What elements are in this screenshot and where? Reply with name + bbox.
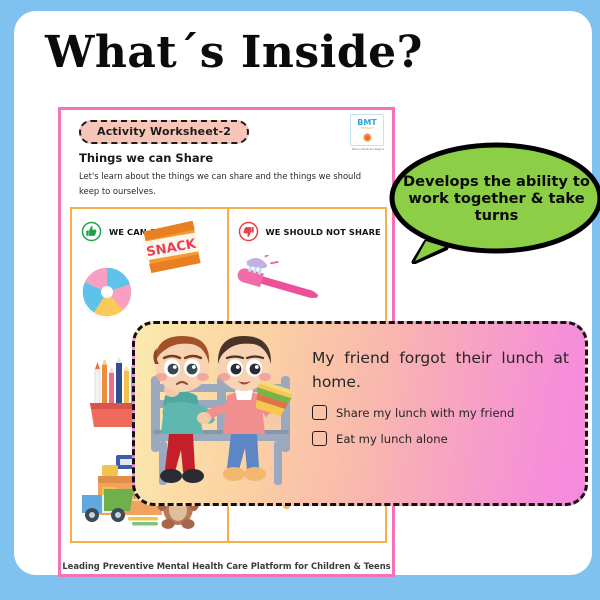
callout-text: Develops the ability to work together & … <box>388 142 600 255</box>
checkbox-share-lunch[interactable] <box>312 405 327 420</box>
logo-mark-icon <box>361 132 374 143</box>
toothbrush-icon <box>235 255 321 317</box>
scenario-content: My friend forgot their lunch at home. Sh… <box>310 324 585 503</box>
option-row-eat-alone[interactable]: Eat my lunch alone <box>312 431 569 446</box>
column-label-not-share: WE SHOULD NOT SHARE <box>266 227 381 237</box>
column-header-not-share: WE SHOULD NOT SHARE <box>229 209 386 245</box>
thumbs-up-icon <box>81 221 102 242</box>
page-title: What´s Inside? <box>45 27 423 78</box>
logo-tagline: Where Wellness Begins <box>350 148 386 151</box>
option-label-share-lunch: Share my lunch with my friend <box>336 406 514 420</box>
thumbs-down-icon <box>238 221 259 242</box>
two-kids-on-bench-icon <box>135 324 310 503</box>
checkbox-eat-alone[interactable] <box>312 431 327 446</box>
option-label-eat-alone: Eat my lunch alone <box>336 432 448 446</box>
page-card: What´s Inside? Activity Worksheet-2 Thin… <box>14 11 592 575</box>
worksheet-subtext: Let's learn about the things we can shar… <box>79 169 364 198</box>
beach-ball-icon <box>79 264 135 320</box>
logo-box: BMT THERAPY <box>350 114 384 146</box>
scenario-prompt: My friend forgot their lunch at home. <box>312 346 569 394</box>
option-row-share[interactable]: Share my lunch with my friend <box>312 405 569 420</box>
activity-badge: Activity Worksheet-2 <box>79 120 249 144</box>
worksheet-footer: Leading Preventive Mental Health Care Pl… <box>61 561 392 571</box>
callout-speech-bubble: Develops the ability to work together & … <box>388 142 600 264</box>
logo-wordmark: BMT <box>357 119 377 127</box>
scenario-card[interactable]: My friend forgot their lunch at home. Sh… <box>132 321 588 506</box>
logo-subword: THERAPY <box>360 128 373 131</box>
snack-packet-icon: SNACK <box>140 221 202 273</box>
bmt-logo: BMT THERAPY Where Wellness Begins <box>350 114 386 151</box>
scenario-illustration <box>135 324 310 503</box>
worksheet-heading: Things we can Share <box>79 151 384 165</box>
